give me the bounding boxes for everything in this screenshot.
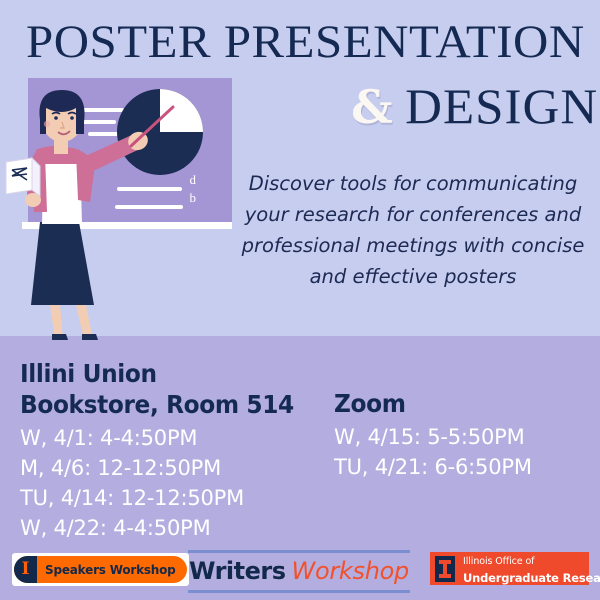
- workshop-word: Workshop: [292, 557, 409, 585]
- illinois-block-i-icon: [435, 556, 455, 582]
- skirt: [31, 222, 94, 305]
- svg-text:q: q: [189, 193, 196, 208]
- writers-workshop-logo[interactable]: WritersWorkshop: [188, 550, 410, 593]
- venue-session-column: Illini Union Bookstore, Room 514 W, 4/1:…: [20, 358, 340, 543]
- poster-canvas: p q: [0, 0, 600, 600]
- zoom-session-column: Zoom W, 4/15: 5-5:50PM TU, 4/21: 6-6:50P…: [334, 388, 596, 482]
- poster-description: Discover tools for communicating your re…: [232, 168, 594, 292]
- undergraduate-research-text: Illinois Office of Undergraduate Researc…: [463, 551, 600, 587]
- our-line2: Undergraduate Research: [463, 571, 600, 585]
- poster-title-line2-group: &DESIGN: [286, 78, 596, 135]
- undergraduate-research-logo[interactable]: Illinois Office of Undergraduate Researc…: [430, 552, 589, 585]
- illinois-block-i-icon: I: [14, 556, 37, 583]
- session-item: W, 4/1: 4-4:50PM: [20, 423, 340, 453]
- venue-heading-line1: Illini Union: [20, 358, 318, 389]
- writers-word: Writers: [189, 557, 285, 585]
- handout-paper: [6, 158, 40, 196]
- pie-chart: [117, 89, 203, 175]
- ampersand-glyph: &: [351, 80, 393, 134]
- footer-logo-bar: I Speakers Workshop WritersWorkshop Illi…: [0, 546, 600, 600]
- session-item: W, 4/22: 4-4:50PM: [20, 513, 340, 543]
- svg-text:p: p: [190, 175, 197, 190]
- session-item: W, 4/15: 5-5:50PM: [334, 422, 596, 452]
- zoom-session-list: W, 4/15: 5-5:50PM TU, 4/21: 6-6:50PM: [334, 422, 596, 482]
- venue-session-list: W, 4/1: 4-4:50PM M, 4/6: 12-12:50PM TU, …: [20, 423, 340, 543]
- session-item: TU, 4/21: 6-6:50PM: [334, 452, 596, 482]
- presenter-illustration: p q: [0, 72, 232, 340]
- our-line1: Illinois Office of: [463, 556, 534, 567]
- speakers-workshop-label: Speakers Workshop: [45, 563, 176, 577]
- venue-heading-line2: Bookstore, Room 514: [20, 389, 318, 420]
- poster-title-design: DESIGN: [405, 78, 598, 134]
- poster-title-line1: POSTER PRESENTATION: [26, 17, 600, 67]
- speakers-workshop-logo[interactable]: I Speakers Workshop: [12, 553, 189, 586]
- session-item: M, 4/6: 12-12:50PM: [20, 453, 340, 483]
- zoom-heading: Zoom: [334, 388, 578, 419]
- session-item: TU, 4/14: 12-12:50PM: [20, 483, 340, 513]
